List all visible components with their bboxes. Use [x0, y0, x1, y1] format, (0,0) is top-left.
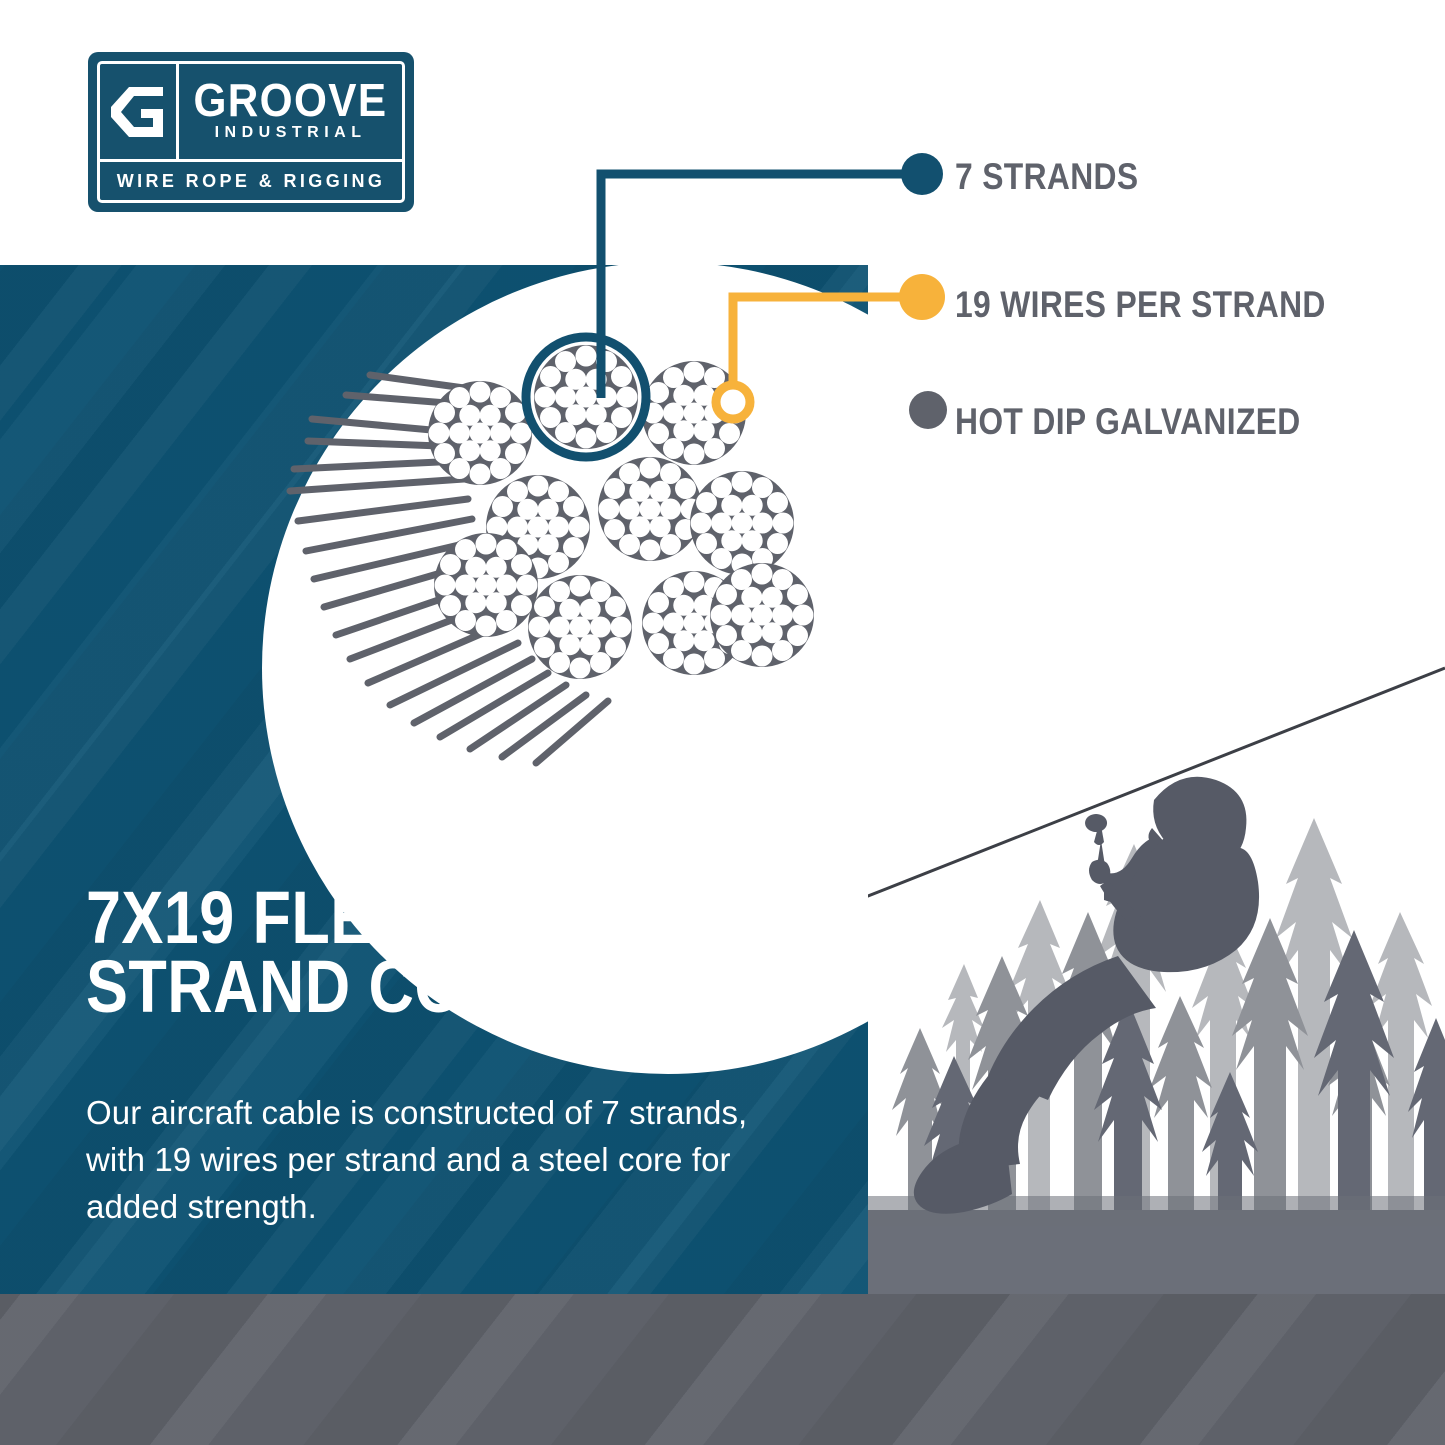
logo-box: GROOVE INDUSTRIAL WIRE ROPE & RIGGING [88, 52, 414, 212]
groove-g-monogram-icon [100, 64, 179, 159]
logo-subname: INDUSTRIAL [215, 124, 367, 142]
zipline-scene-art [868, 600, 1445, 1294]
callout-label-wires: 19 WIRES PER STRAND [955, 284, 1326, 326]
wire-rope-illustration [250, 255, 850, 785]
headline-line-1: 7X19 FLEXIBLE [86, 884, 732, 953]
zipline-scene [868, 600, 1445, 1294]
logo-tagline-row: WIRE ROPE & RIGGING [100, 159, 402, 200]
page-title: 7X19 FLEXIBLE STRAND CONSTRUCTION [86, 884, 732, 1022]
callout-label-strands: 7 STRANDS [955, 156, 1138, 198]
logo-top-row: GROOVE INDUSTRIAL [100, 64, 402, 159]
logo-name: GROOVE [194, 79, 388, 121]
body-copy: Our aircraft cable is constructed of 7 s… [86, 1090, 766, 1231]
infographic-canvas: 7 STRANDS 19 WIRES PER STRAND HOT DIP GA… [0, 0, 1445, 1445]
callout-label-galvanized: HOT DIP GALVANIZED [955, 401, 1301, 443]
logo-inner-frame: GROOVE INDUSTRIAL WIRE ROPE & RIGGING [97, 61, 405, 203]
logo-wordmark: GROOVE INDUSTRIAL [179, 64, 402, 159]
footer-bar [0, 1294, 1445, 1445]
callout-dot-galvanized [909, 391, 947, 429]
headline-line-2: STRAND CONSTRUCTION [86, 953, 732, 1022]
g-monogram-art [107, 81, 169, 143]
wire-rope-art [250, 255, 850, 785]
callout-dot-strands [901, 153, 943, 195]
strand-bundle [428, 345, 814, 679]
logo-tagline: WIRE ROPE & RIGGING [117, 171, 386, 192]
footer-texture-stripes [0, 1294, 1445, 1445]
callout-dot-wires [899, 274, 945, 320]
brand-logo[interactable]: GROOVE INDUSTRIAL WIRE ROPE & RIGGING [88, 52, 414, 212]
